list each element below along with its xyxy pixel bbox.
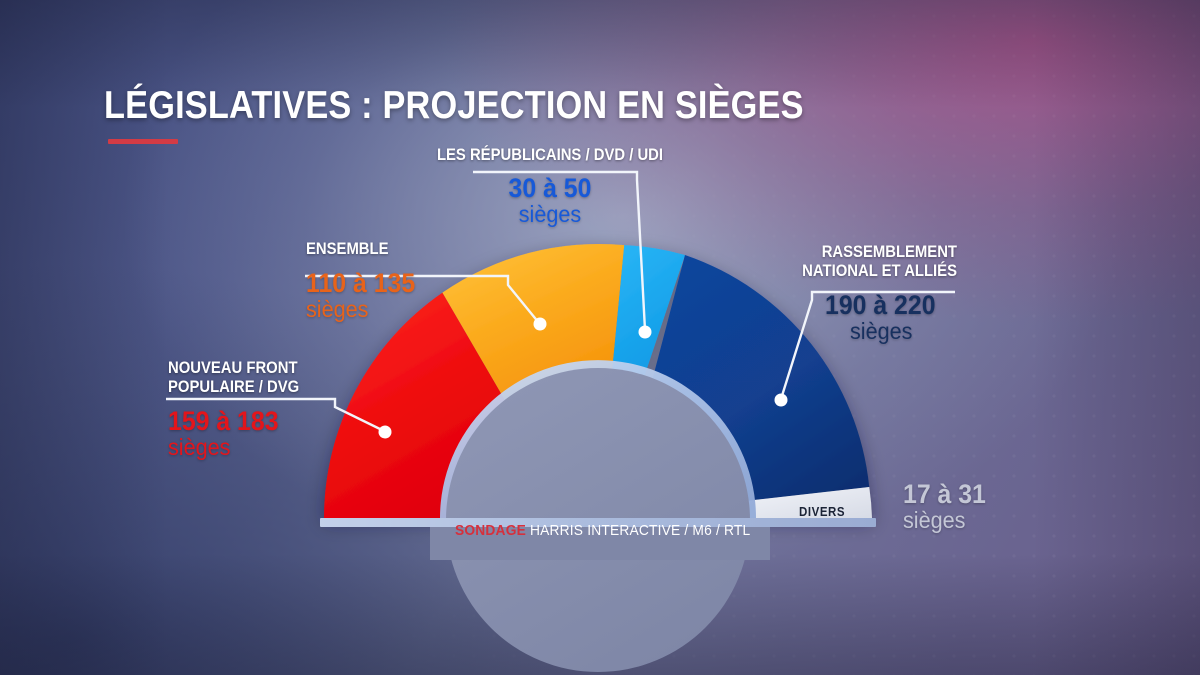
- callout-label-nfp-line1: NOUVEAU FRONT: [168, 359, 299, 378]
- arc-label-divers: DIVERS: [799, 505, 845, 519]
- leader-dot-rn: [775, 394, 788, 407]
- credit-prefix: SONDAGE: [455, 523, 526, 539]
- callout-label-les-republicains: LES RÉPUBLICAINS / DVD / UDI: [357, 146, 744, 165]
- callout-ensemble: ENSEMBLE 110 à 135 sièges: [306, 240, 425, 322]
- callout-range-les-republicains: 30 à 50: [352, 174, 748, 202]
- leader-dot-ensemble: [534, 318, 547, 331]
- callout-range-nfp: 159 à 183: [168, 407, 302, 435]
- callout-label-rn-line2: NATIONAL ET ALLIÉS: [631, 262, 957, 281]
- callout-label-nfp-line2: POPULAIRE / DVG: [168, 378, 299, 397]
- leader-dot-nfp: [379, 426, 392, 439]
- callout-range-rn: 190 à 220: [825, 291, 946, 319]
- callout-divers: 17 à 31 sièges: [903, 480, 993, 533]
- callout-label-rn-line1: RASSEMBLEMENT: [631, 243, 957, 262]
- callout-label-ensemble: ENSEMBLE: [306, 240, 413, 259]
- credit-source: HARRIS INTERACTIVE / M6 / RTL: [526, 523, 750, 539]
- callout-rassemblement-national: RASSEMBLEMENT NATIONAL ET ALLIÉS 190 à 2…: [595, 243, 957, 344]
- callout-range-divers: 17 à 31: [903, 480, 986, 508]
- callout-unit-rn: sièges: [850, 319, 951, 344]
- callout-les-republicains: LES RÉPUBLICAINS / DVD / UDI 30 à 50 siè…: [335, 146, 765, 227]
- callout-nouveau-front-populaire: NOUVEAU FRONT POPULAIRE / DVG 159 à 183 …: [168, 359, 314, 460]
- poll-credit: SONDAGE HARRIS INTERACTIVE / M6 / RTL: [455, 523, 750, 539]
- callout-unit-les-republicains: sièges: [348, 202, 752, 227]
- callout-unit-ensemble: sièges: [306, 297, 418, 322]
- callout-unit-divers: sièges: [903, 508, 988, 533]
- callout-range-ensemble: 110 à 135: [306, 269, 415, 297]
- callout-unit-nfp: sièges: [168, 435, 305, 460]
